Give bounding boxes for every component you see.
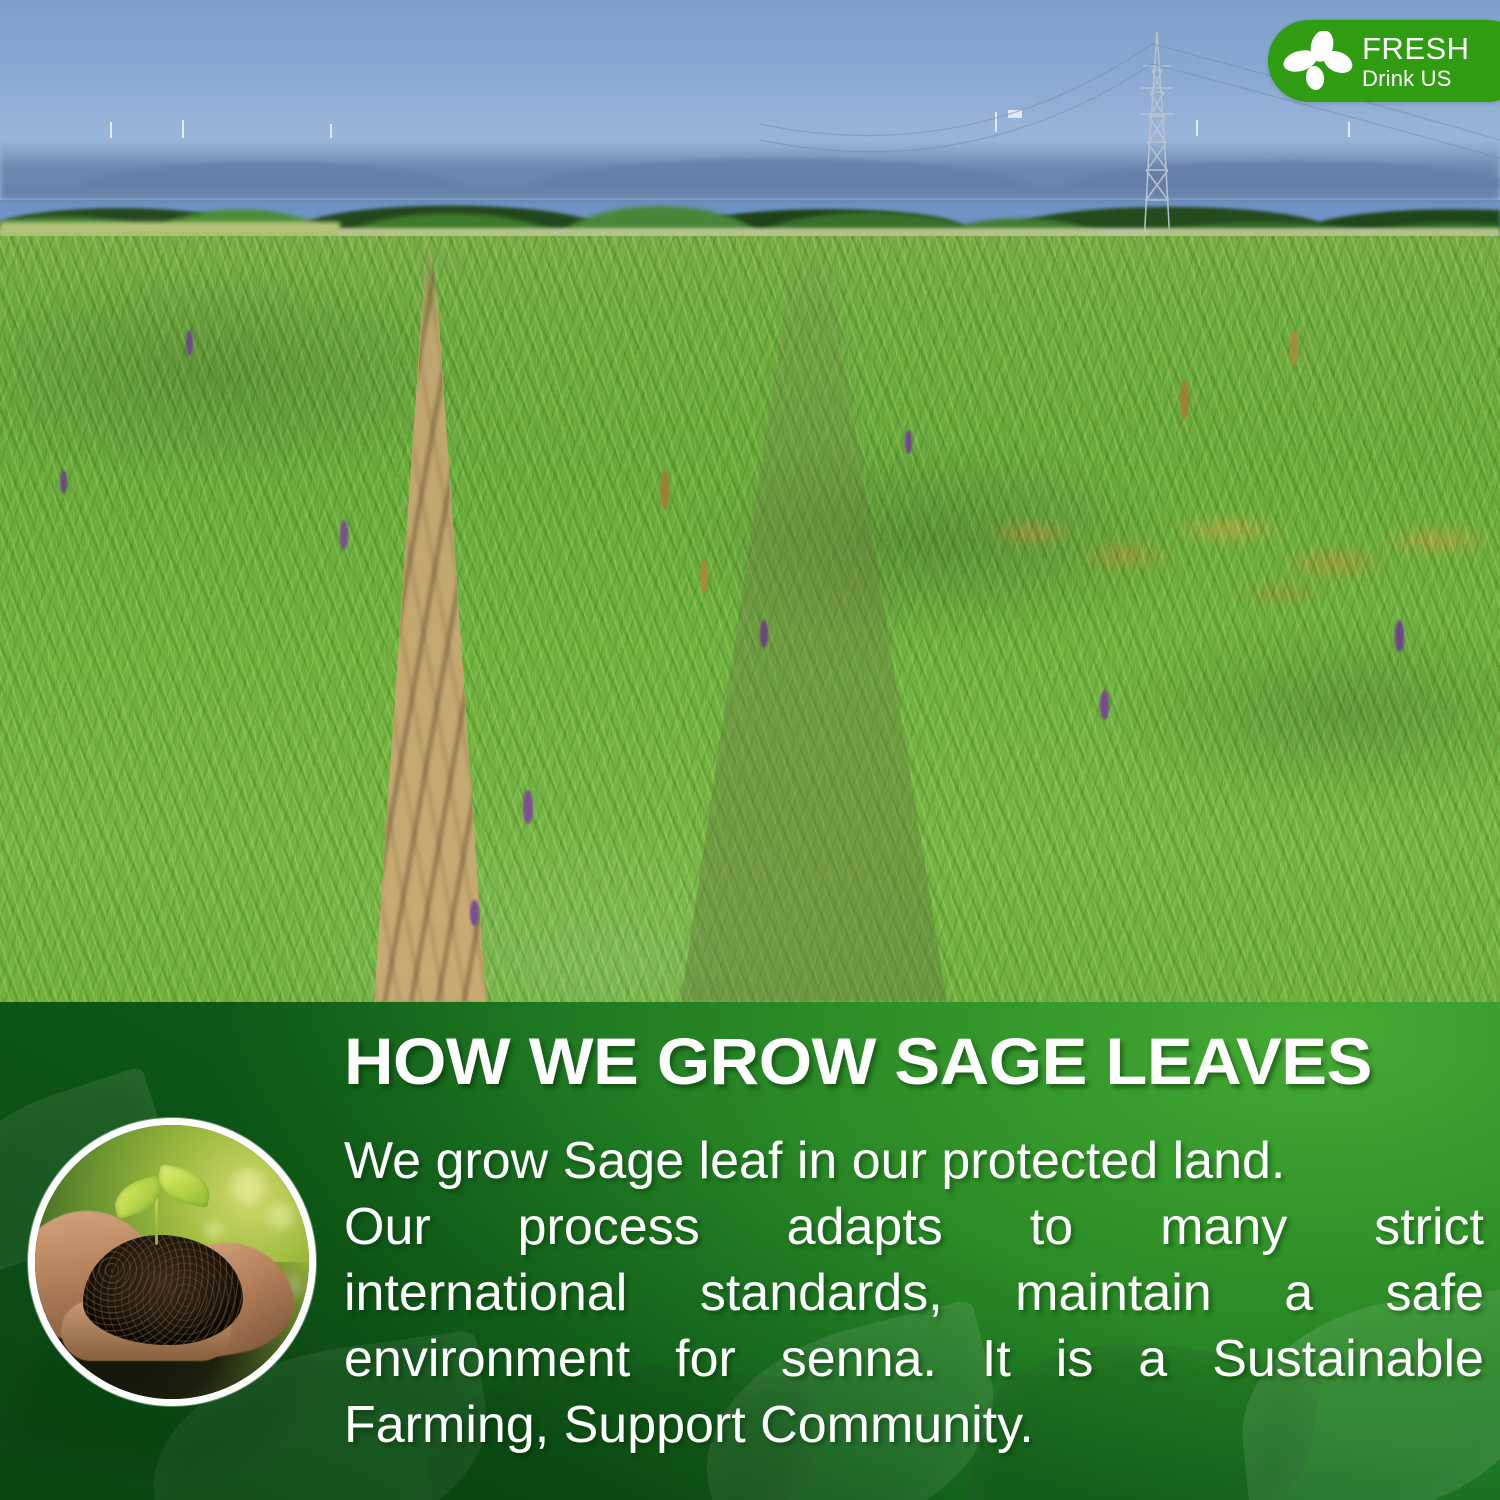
golden-flower-spike [700,560,708,594]
poster-root: HOW WE GROW SAGE LEAVES We grow Sage lea… [0,0,1500,1500]
body-line: environmentforsenna.ItisaSustainable [344,1326,1484,1392]
golden-flower-spike [660,470,669,510]
bokeh-dot [231,1169,265,1203]
page-title: HOW WE GROW SAGE LEAVES [344,1026,1500,1096]
bokeh-dot [267,1203,293,1229]
purple-flower-spike [1395,620,1404,652]
seedling-circle-photo [28,1118,316,1406]
purple-flower-spike [340,520,348,550]
purple-flower-spike [186,330,193,356]
purple-flower-spike [60,470,67,494]
purple-flower-spike [523,790,533,824]
field-photo [0,0,1500,1002]
purple-flower-spike [1100,690,1109,720]
leaf-cluster-icon [1282,31,1354,91]
brand-name: FRESH [1362,33,1470,64]
body-line: internationalstandards,maintainasafe [344,1260,1484,1326]
golden-flower-spike [1290,330,1298,366]
brand-text: FRESH Drink US [1362,33,1470,90]
brand-tagline: Drink US [1362,68,1470,90]
golden-flower-spike [1180,380,1189,420]
purple-flower-spike [470,900,479,926]
purple-flower-spike [760,620,768,648]
seedling-stem [155,1195,158,1245]
bokeh-dot [205,1221,223,1239]
purple-flower-spike [905,430,912,454]
body-line: Ourprocessadaptstomanystrict [344,1194,1484,1260]
banner-body-text: We grow Sage leaf in our protected land.… [344,1128,1484,1458]
body-line: Farming, Support Community. [344,1392,1484,1458]
body-line: We grow Sage leaf in our protected land. [344,1128,1484,1194]
brand-logo[interactable]: FRESH Drink US [1268,20,1500,102]
